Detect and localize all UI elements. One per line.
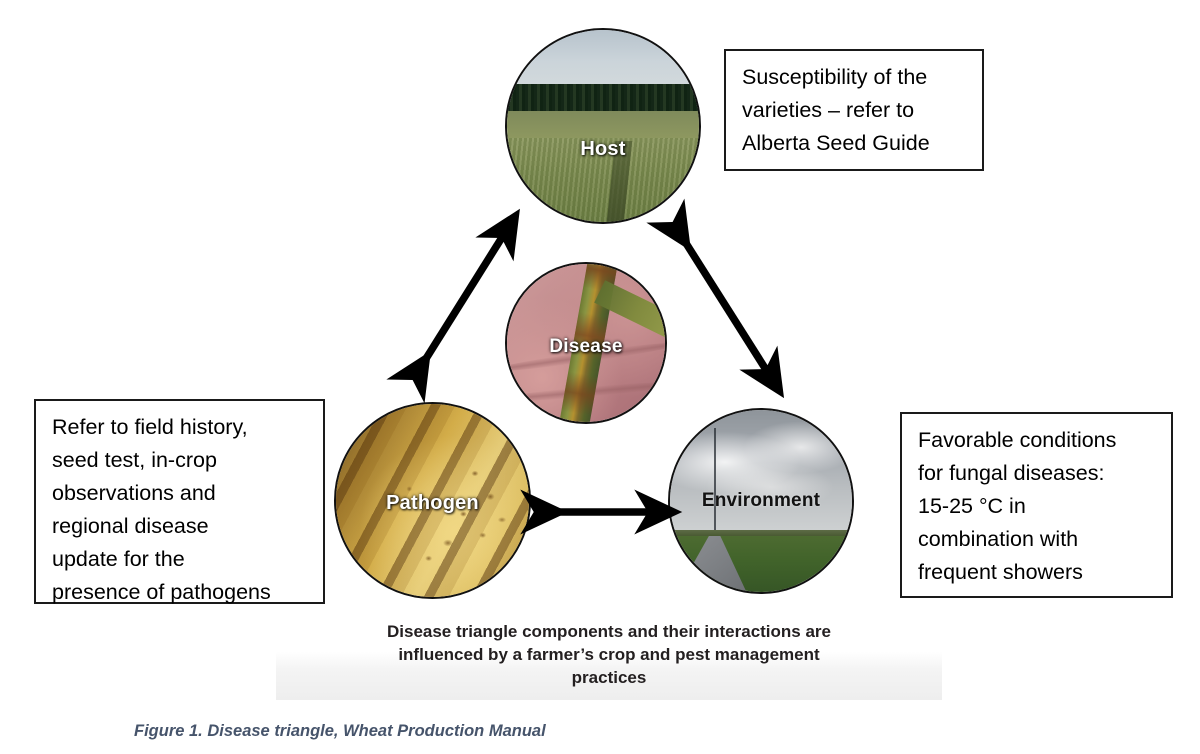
node-host-label: Host [507, 138, 699, 161]
callout-pathogen-line-2: seed test, in-crop [52, 448, 217, 472]
node-host[interactable]: Host [505, 28, 701, 224]
callout-pathogen: Refer to field history, seed test, in-cr… [34, 399, 325, 604]
callout-environment-line-4: combination with [918, 527, 1078, 551]
callout-environment-line-3: 15-25 °C in [918, 494, 1026, 518]
callout-pathogen-line-1: Refer to field history, [52, 415, 248, 439]
node-pathogen-label: Pathogen [336, 492, 529, 515]
node-environment-label: Environment [670, 490, 852, 512]
callout-pathogen-line-4: regional disease [52, 514, 209, 538]
callout-host-line-1: Susceptibility of the [742, 65, 927, 89]
callout-environment-line-1: Favorable conditions [918, 428, 1116, 452]
node-disease-label: Disease [507, 336, 665, 358]
arrow-host-pathogen-icon [396, 216, 526, 391]
node-disease[interactable]: Disease [505, 262, 667, 424]
callout-environment-line-2: for fungal diseases: [918, 461, 1104, 485]
bottom-note: Disease triangle components and their in… [276, 620, 942, 689]
callout-environment-line-5: frequent showers [918, 560, 1083, 584]
bottom-note-line-2: influenced by a farmer’s crop and pest m… [398, 645, 819, 664]
figure-canvas: Host Disease Pathogen Environment [0, 0, 1200, 754]
bottom-note-line-1: Disease triangle components and their in… [387, 622, 831, 641]
callout-host-line-2: varieties – refer to [742, 98, 914, 122]
callout-host: Susceptibility of the varieties – refer … [724, 49, 984, 171]
callout-pathogen-line-6: presence of pathogens [52, 580, 271, 604]
callout-environment: Favorable conditions for fungal diseases… [900, 412, 1173, 598]
node-environment[interactable]: Environment [668, 408, 854, 594]
arrow-pathogen-environment-icon [530, 495, 670, 529]
figure-caption: Figure 1. Disease triangle, Wheat Produc… [134, 722, 546, 741]
arrow-host-environment-icon [660, 216, 790, 391]
callout-pathogen-line-5: update for the [52, 547, 185, 571]
callout-pathogen-line-3: observations and [52, 481, 216, 505]
host-photo [507, 30, 699, 222]
node-pathogen[interactable]: Pathogen [334, 402, 531, 599]
bottom-note-line-3: practices [572, 668, 647, 687]
callout-host-line-3: Alberta Seed Guide [742, 131, 930, 155]
